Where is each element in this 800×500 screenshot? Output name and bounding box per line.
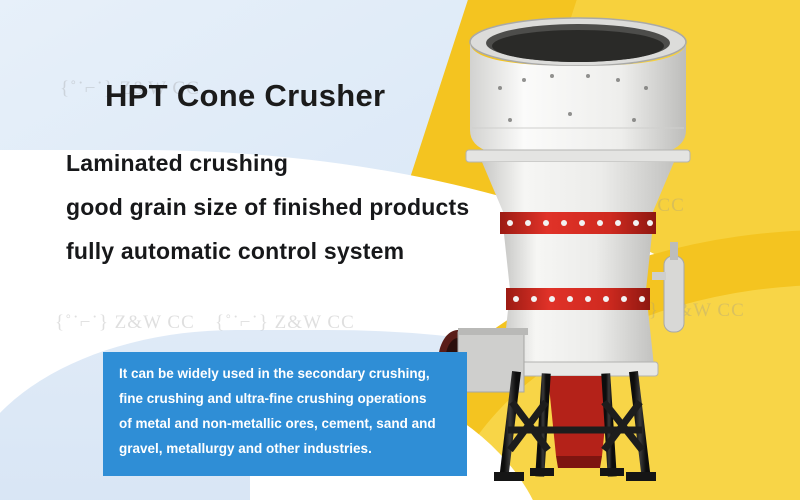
cone-crusher-illustration [420, 10, 790, 500]
description-line: gravel, metallurgy and other industries. [119, 441, 449, 458]
description-line: It can be widely used in the secondary c… [119, 366, 449, 383]
page-title: HPT Cone Crusher [105, 78, 385, 114]
description-line: fine crushing and ultra-fine crushing op… [119, 391, 449, 408]
description-line: of metal and non-metallic ores, cement, … [119, 416, 449, 433]
subheading-1: Laminated crushing [66, 150, 288, 177]
promo-banner: {˚˙⌐˙} Z&W CC {˚˙⌐˙} Z&W CC {˚˙⌐˙} Z&W C… [0, 0, 800, 500]
subheading-3: fully automatic control system [66, 238, 404, 265]
description-card: It can be widely used in the secondary c… [103, 352, 467, 476]
subheading-2: good grain size of finished products [66, 194, 469, 221]
